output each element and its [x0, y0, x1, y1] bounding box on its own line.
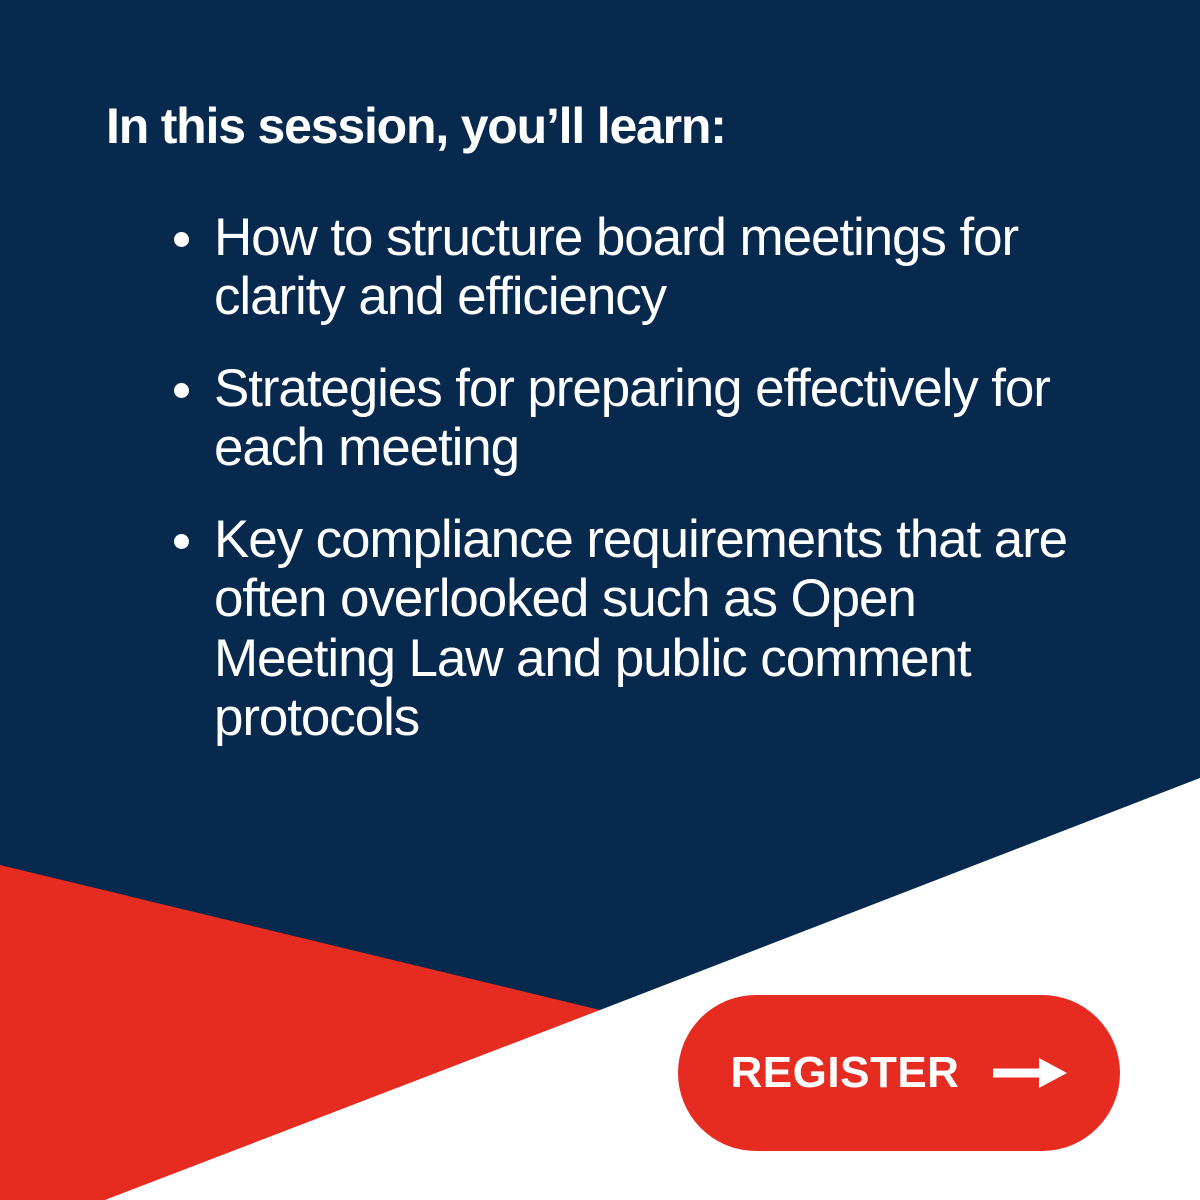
list-item: How to structure board meetings for clar… — [168, 208, 1088, 326]
bullet-dot-icon — [174, 232, 189, 247]
poster-content: In this session, you’ll learn: How to st… — [0, 0, 1200, 1200]
list-item: Strategies for preparing effectively for… — [168, 359, 1088, 477]
list-item-label: How to structure board meetings for clar… — [214, 208, 1088, 326]
list-item: Key compliance requirements that are oft… — [168, 510, 1088, 746]
session-learnings-list: How to structure board meetings for clar… — [168, 208, 1088, 747]
list-item-label: Strategies for preparing effectively for… — [214, 359, 1088, 477]
page-title: In this session, you’ll learn: — [106, 98, 1106, 154]
list-item-label: Key compliance requirements that are oft… — [214, 510, 1088, 746]
register-button[interactable]: REGISTER — [678, 995, 1120, 1151]
bullet-dot-icon — [174, 383, 189, 398]
arrow-right-icon — [993, 1056, 1067, 1090]
promo-poster: In this session, you’ll learn: How to st… — [0, 0, 1200, 1200]
register-button-label: REGISTER — [731, 1051, 960, 1095]
bullet-dot-icon — [174, 534, 189, 549]
